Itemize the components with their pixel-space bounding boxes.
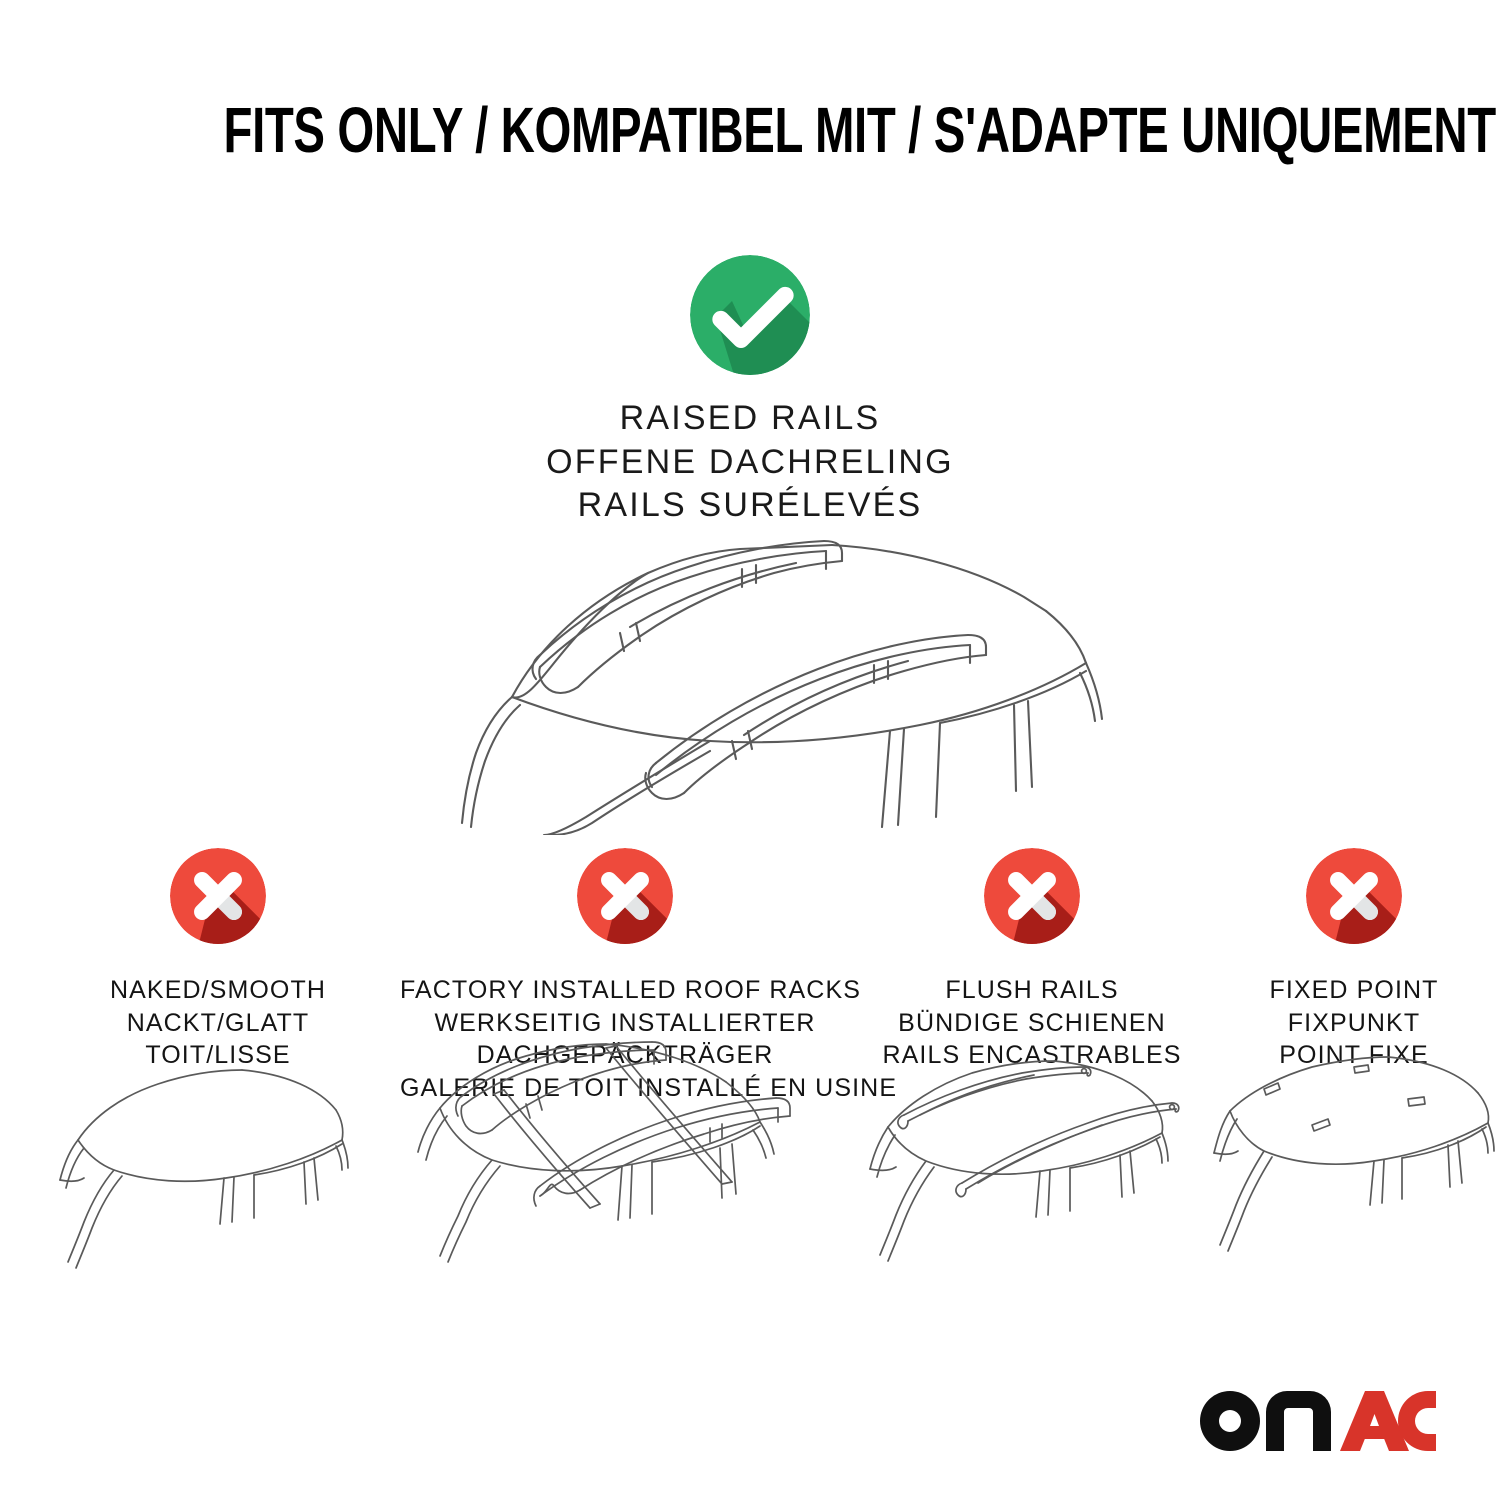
label-en: NAKED/SMOOTH (48, 974, 388, 1007)
icon-wrap (400, 848, 850, 966)
x-circle-glyph (170, 848, 266, 944)
incompatible-item-naked-smooth: NAKED/SMOOTH NACKT/GLATT TOIT/LISSE (48, 848, 388, 1072)
check-circle-icon (690, 255, 810, 375)
compatible-section: RAISED RAILS OFFENE DACHRELING RAILS SUR… (0, 255, 1500, 528)
label-de: FIXPUNKT (1208, 1007, 1500, 1040)
car-roof-with-fixed-points-illustration (1208, 1053, 1500, 1288)
compatible-label-en: RAISED RAILS (0, 397, 1500, 441)
x-circle-icon (1306, 848, 1402, 944)
label-de: BÜNDIGE SCHIENEN (862, 1007, 1202, 1040)
incompatible-item-factory-roof-racks: FACTORY INSTALLED ROOF RACKS WERKSEITIG … (400, 848, 850, 1104)
x-circle-icon (577, 848, 673, 944)
car-roof-with-raised-rails-illustration (380, 505, 1120, 835)
car-roof-with-flush-rails-illustration (862, 1053, 1202, 1288)
car-roof-with-factory-crossbars-illustration (400, 1038, 850, 1288)
factory-crossbars-drawing (400, 1038, 850, 1288)
flush-rails-drawing (862, 1053, 1202, 1288)
label-de: NACKT/GLATT (48, 1007, 388, 1040)
x-circle-glyph (1306, 848, 1402, 944)
incompatible-item-flush-rails: FLUSH RAILS BÜNDIGE SCHIENEN RAILS ENCAS… (862, 848, 1202, 1072)
page-title: FITS ONLY / KOMPATIBEL MIT / S'ADAPTE UN… (224, 98, 1496, 162)
label-en: FLUSH RAILS (862, 974, 1202, 1007)
raised-rails-drawing (380, 505, 1120, 835)
bare-roof-drawing (48, 1058, 388, 1288)
x-circle-glyph (984, 848, 1080, 944)
fixed-points-drawing (1208, 1053, 1500, 1288)
x-circle-icon (984, 848, 1080, 944)
omac-logo (1200, 1390, 1436, 1452)
compatible-label-de: OFFENE DACHRELING (0, 441, 1500, 485)
label-en: FACTORY INSTALLED ROOF RACKS (400, 974, 850, 1007)
label-de-1: WERKSEITIG INSTALLIERTER (400, 1007, 850, 1040)
icon-wrap (48, 848, 388, 966)
x-circle-icon (170, 848, 266, 944)
icon-wrap (862, 848, 1202, 966)
x-circle-glyph (577, 848, 673, 944)
check-circle-glyph (690, 255, 810, 375)
header: FITS ONLY / KOMPATIBEL MIT / S'ADAPTE UN… (0, 98, 1500, 162)
labels: NAKED/SMOOTH NACKT/GLATT TOIT/LISSE (48, 974, 388, 1072)
icon-wrap (1208, 848, 1500, 966)
omac-logo-mark (1200, 1390, 1436, 1452)
car-roof-bare-illustration (48, 1058, 388, 1288)
incompatible-item-fixed-point: FIXED POINT FIXPUNKT POINT FIXE (1208, 848, 1500, 1072)
label-en: FIXED POINT (1208, 974, 1500, 1007)
